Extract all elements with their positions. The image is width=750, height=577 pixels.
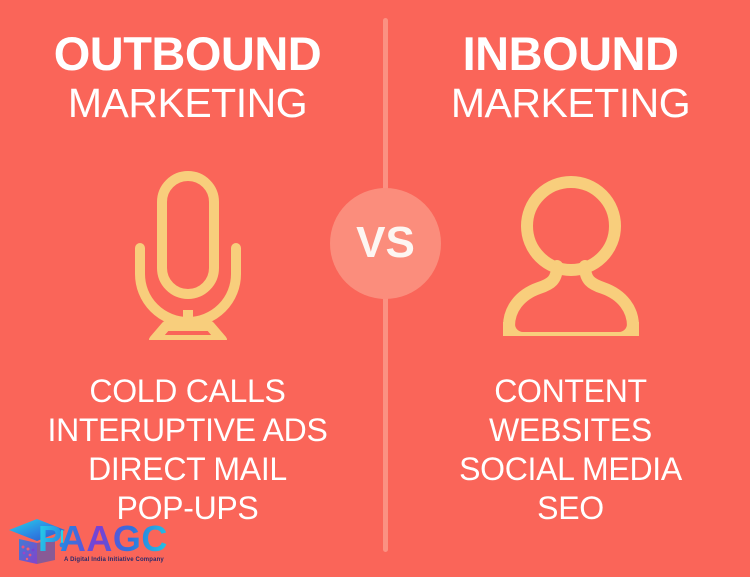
list-item: DIRECT MAIL: [0, 450, 375, 489]
microphone-icon: [128, 170, 248, 340]
outbound-heading-light: MARKETING: [0, 83, 375, 124]
outbound-item-list: COLD CALLS INTERUPTIVE ADS DIRECT MAIL P…: [0, 372, 385, 528]
outbound-column: OUTBOUND MARKETING COLD CALLS INTERUPTIV…: [0, 0, 375, 577]
inbound-heading-strong: INBOUND: [383, 30, 750, 77]
list-item: WEBSITES: [383, 411, 750, 450]
inbound-item-list: CONTENT WEBSITES SOCIAL MEDIA SEO: [375, 372, 750, 528]
inbound-column: INBOUND MARKETING CONTENT WEBSITES SOCIA…: [375, 0, 750, 577]
list-item: CONTENT: [383, 372, 750, 411]
list-item: SEO: [383, 489, 750, 528]
list-item: INTERUPTIVE ADS: [0, 411, 375, 450]
paagc-logo: PAAGC A Digital India Initiative Company: [6, 507, 186, 573]
list-item: COLD CALLS: [0, 372, 375, 411]
inbound-heading: INBOUND MARKETING: [375, 30, 750, 124]
vs-badge: VS: [330, 188, 441, 299]
list-item: SOCIAL MEDIA: [383, 450, 750, 489]
infographic-canvas: OUTBOUND MARKETING COLD CALLS INTERUPTIV…: [0, 0, 750, 577]
outbound-heading: OUTBOUND MARKETING: [0, 30, 387, 124]
outbound-heading-strong: OUTBOUND: [0, 30, 375, 77]
outbound-icon-area: [0, 165, 383, 345]
inbound-heading-light: MARKETING: [383, 83, 750, 124]
logo-wordmark: PAAGC: [38, 521, 168, 557]
vs-label: VS: [356, 221, 415, 265]
person-icon: [501, 174, 641, 336]
logo-tagline: A Digital India Initiative Company: [64, 557, 164, 563]
